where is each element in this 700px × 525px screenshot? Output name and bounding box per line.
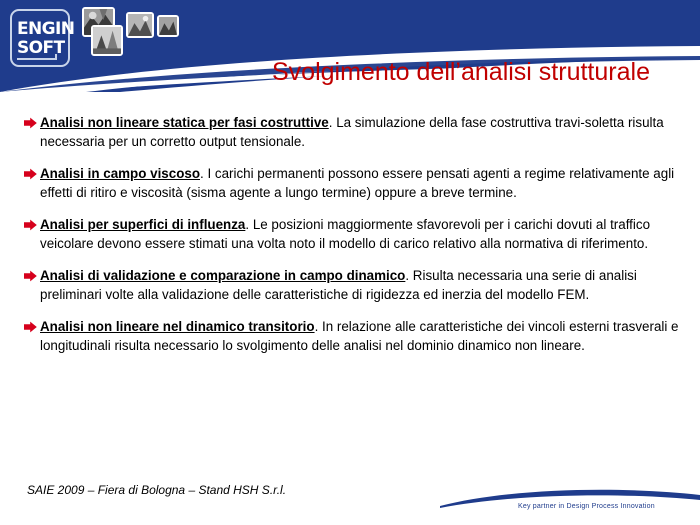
list-item-lead: Analisi non lineare statica per fasi cos… [40, 115, 329, 130]
red-arrow-bullet-icon [24, 270, 37, 282]
footer-tagline: Key partner in Design Process Innovation [518, 503, 655, 510]
list-item-lead: Analisi per superfici di influenza [40, 217, 245, 232]
logo-text-engin: ENGIN [17, 21, 74, 38]
footer-brand-mark: Key partner in Design Process Innovation [440, 486, 700, 525]
list-item-lead: Analisi non lineare nel dinamico transit… [40, 319, 315, 334]
red-arrow-bullet-icon [24, 117, 37, 129]
photo-thumbnail-2 [91, 25, 123, 56]
enginsoft-logo: ENGIN SOFT [10, 9, 70, 67]
page-title: Svolgimento dell’analisi strutturale [272, 57, 692, 87]
red-arrow-bullet-icon [24, 219, 37, 231]
photo-thumbnail-3 [126, 12, 154, 38]
list-item-lead: Analisi di validazione e comparazione in… [40, 268, 405, 283]
photo-thumbnail-4 [157, 15, 179, 37]
slide-header: ENGIN SOFT Svolgiment [0, 0, 700, 92]
list-item: Analisi non lineare nel dinamico transit… [0, 317, 700, 355]
list-item: Analisi per superfici di influenza. Le p… [0, 215, 700, 253]
footer-event-note: SAIE 2009 – Fiera di Bologna – Stand HSH… [27, 483, 286, 497]
logo-tick-mark [55, 54, 57, 60]
logo-text-soft: SOFT [17, 40, 65, 57]
red-arrow-bullet-icon [24, 321, 37, 333]
slide-body: Analisi non lineare statica per fasi cos… [0, 113, 700, 473]
logo-underline-rule [17, 58, 57, 60]
list-item: Analisi non lineare statica per fasi cos… [0, 113, 700, 151]
red-arrow-bullet-icon [24, 168, 37, 180]
list-item-lead: Analisi in campo viscoso [40, 166, 200, 181]
list-item: Analisi di validazione e comparazione in… [0, 266, 700, 304]
list-item: Analisi in campo viscoso. I carichi perm… [0, 164, 700, 202]
